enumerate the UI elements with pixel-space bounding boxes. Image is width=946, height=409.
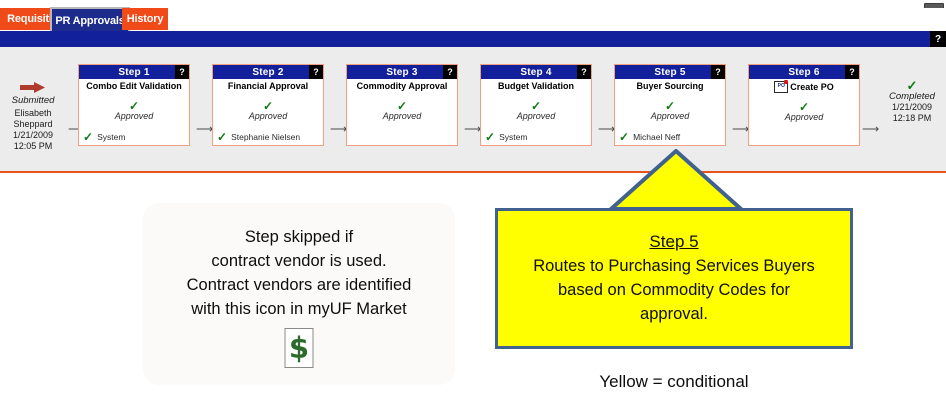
completed-time: 12:18 PM xyxy=(893,113,932,123)
step-6-status: ✓ Approved xyxy=(749,102,859,122)
step-1-actor-label: System xyxy=(97,132,125,142)
tab-strip-filler xyxy=(168,8,946,30)
workflow-end-label: Completed xyxy=(880,91,944,102)
callout-line-1: Routes to Purchasing Services Buyers xyxy=(533,254,815,278)
step-1-help-button[interactable]: ? xyxy=(175,65,189,79)
step-4-name: Budget Validation xyxy=(481,81,591,92)
step-5-status-label: Approved xyxy=(651,111,690,121)
step-3-status-label: Approved xyxy=(383,111,422,121)
step-1-status-label: Approved xyxy=(115,111,154,121)
step-2-help-button[interactable]: ? xyxy=(309,65,323,79)
step-5-status: ✓ Approved xyxy=(615,101,725,121)
help-button[interactable]: ? xyxy=(930,31,946,47)
green-check-icon: ✓ xyxy=(485,133,495,142)
green-check-icon: ✓ xyxy=(213,101,323,111)
submitted-date: 1/21/2009 xyxy=(13,130,53,140)
command-bar: ? xyxy=(0,31,946,47)
contract-vendor-note: Step skipped if contract vendor is used.… xyxy=(143,203,455,385)
workflow-start-label: Submitted xyxy=(2,95,64,106)
arrow-right-icon: ⟶ xyxy=(862,123,879,135)
step-2-header: Step 2 ? xyxy=(213,65,323,79)
green-check-icon: ✓ xyxy=(615,101,725,111)
note-line-2: contract vendor is used. xyxy=(151,249,447,273)
step-2-status: ✓ Approved xyxy=(213,101,323,121)
tab-pr-approvals-label: PR Approvals xyxy=(55,15,124,27)
purchase-order-icon: PO xyxy=(774,81,788,93)
arrow-right-icon: ⟶ xyxy=(464,123,481,135)
callout-line-2: based on Commodity Codes for xyxy=(533,278,815,302)
green-check-icon: ✓ xyxy=(79,101,189,111)
note-line-3: Contract vendors are identified xyxy=(151,273,447,297)
contract-vendor-note-text: Step skipped if contract vendor is used.… xyxy=(143,203,455,321)
step-1-number: Step 1 xyxy=(118,67,149,78)
step-6-number: Step 6 xyxy=(788,67,819,78)
completed-date: 1/21/2009 xyxy=(892,102,932,112)
callout-line-3: approval. xyxy=(533,302,815,326)
legend-text: Yellow = conditional xyxy=(495,372,853,392)
yellow-up-arrow-icon xyxy=(608,149,744,211)
tab-history-label: History xyxy=(127,13,164,25)
arrow-right-icon: ⟶ xyxy=(732,123,749,135)
step-2-number: Step 2 xyxy=(252,67,283,78)
step-6-name-row: PO Create PO xyxy=(749,81,859,93)
workflow-step-2[interactable]: Step 2 ? Financial Approval ✓ Approved ✓… xyxy=(212,64,324,146)
arrow-right-icon: ⟶ xyxy=(196,123,213,135)
app-screenshot: Requisition PR Approvals History ? Submi… xyxy=(0,0,946,409)
step-5-header: Step 5 ? xyxy=(615,65,725,79)
note-line-1: Step skipped if xyxy=(151,225,447,249)
step-3-help-button[interactable]: ? xyxy=(443,65,457,79)
step-3-number: Step 3 xyxy=(386,67,417,78)
green-check-icon: ✓ xyxy=(749,102,859,112)
step-5-help-button[interactable]: ? xyxy=(711,65,725,79)
step-6-header: Step 6 ? xyxy=(749,65,859,79)
green-check-icon: ✓ xyxy=(880,80,944,91)
step-4-header: Step 4 ? xyxy=(481,65,591,79)
callout-body: Routes to Purchasing Services Buyers bas… xyxy=(523,254,825,326)
step-1-name: Combo Edit Validation xyxy=(79,81,189,92)
green-check-icon: ✓ xyxy=(619,133,629,142)
step5-callout: Step 5 Routes to Purchasing Services Buy… xyxy=(495,208,853,349)
green-dollar-sign-icon: $ xyxy=(285,328,314,368)
arrow-right-icon: ⟶ xyxy=(598,123,615,135)
step-6-help-button[interactable]: ? xyxy=(845,65,859,79)
green-check-icon: ✓ xyxy=(217,133,227,142)
workflow-step-3[interactable]: Step 3 ? Commodity Approval ✓ Approved xyxy=(346,64,458,146)
step-4-status: ✓ Approved xyxy=(481,101,591,121)
step-1-actor: ✓ System xyxy=(83,132,185,142)
step-4-actor: ✓ System xyxy=(485,132,587,142)
tab-strip: Requisition PR Approvals History xyxy=(0,8,946,31)
section-divider xyxy=(0,171,946,173)
step-4-help-button[interactable]: ? xyxy=(577,65,591,79)
workflow-step-6[interactable]: Step 6 ? PO Create PO ✓ Approved xyxy=(748,64,860,146)
green-check-icon: ✓ xyxy=(83,133,93,142)
green-check-icon: ✓ xyxy=(481,101,591,111)
submitter-last-name: Sheppard xyxy=(13,119,52,129)
note-line-4: with this icon in myUF Market xyxy=(151,297,447,321)
step-2-status-label: Approved xyxy=(249,111,288,121)
step-2-actor: ✓ Stephanie Nielsen xyxy=(217,132,319,142)
submitter-first-name: Elisabeth xyxy=(14,108,51,118)
workflow-step-4[interactable]: Step 4 ? Budget Validation ✓ Approved ✓ … xyxy=(480,64,592,146)
tab-pr-approvals[interactable]: PR Approvals xyxy=(50,7,130,32)
workflow-step-1[interactable]: Step 1 ? Combo Edit Validation ✓ Approve… xyxy=(78,64,190,146)
step-3-status: ✓ Approved xyxy=(347,101,457,121)
arrow-right-icon: ⟶ xyxy=(330,123,347,135)
step-4-status-label: Approved xyxy=(517,111,556,121)
red-arrow-right-icon xyxy=(20,82,46,93)
step-4-actor-label: System xyxy=(499,132,527,142)
step-2-actor-label: Stephanie Nielsen xyxy=(231,132,300,142)
callout-title: Step 5 xyxy=(649,232,698,252)
step-3-header: Step 3 ? xyxy=(347,65,457,79)
step-5-name: Buyer Sourcing xyxy=(615,81,725,92)
step-2-name: Financial Approval xyxy=(213,81,323,92)
tab-history[interactable]: History xyxy=(122,8,168,30)
green-check-icon: ✓ xyxy=(347,101,457,111)
submitted-time: 12:05 PM xyxy=(14,141,53,151)
step-6-name: Create PO xyxy=(790,82,834,93)
workflow-panel: Submitted Elisabeth Sheppard 1/21/2009 1… xyxy=(0,47,946,172)
step-4-number: Step 4 xyxy=(520,67,551,78)
workflow-end: ✓ Completed 1/21/2009 12:18 PM xyxy=(880,80,944,124)
step-5-actor: ✓ Michael Neff xyxy=(619,132,721,142)
step-5-actor-label: Michael Neff xyxy=(633,132,680,142)
step-1-status: ✓ Approved xyxy=(79,101,189,121)
step-3-name: Commodity Approval xyxy=(347,81,457,92)
step-5-number: Step 5 xyxy=(654,67,685,78)
step-1-header: Step 1 ? xyxy=(79,65,189,79)
workflow-start: Submitted Elisabeth Sheppard 1/21/2009 1… xyxy=(2,82,64,152)
workflow-step-5[interactable]: Step 5 ? Buyer Sourcing ✓ Approved ✓ Mic… xyxy=(614,64,726,146)
step-6-status-label: Approved xyxy=(785,112,824,122)
